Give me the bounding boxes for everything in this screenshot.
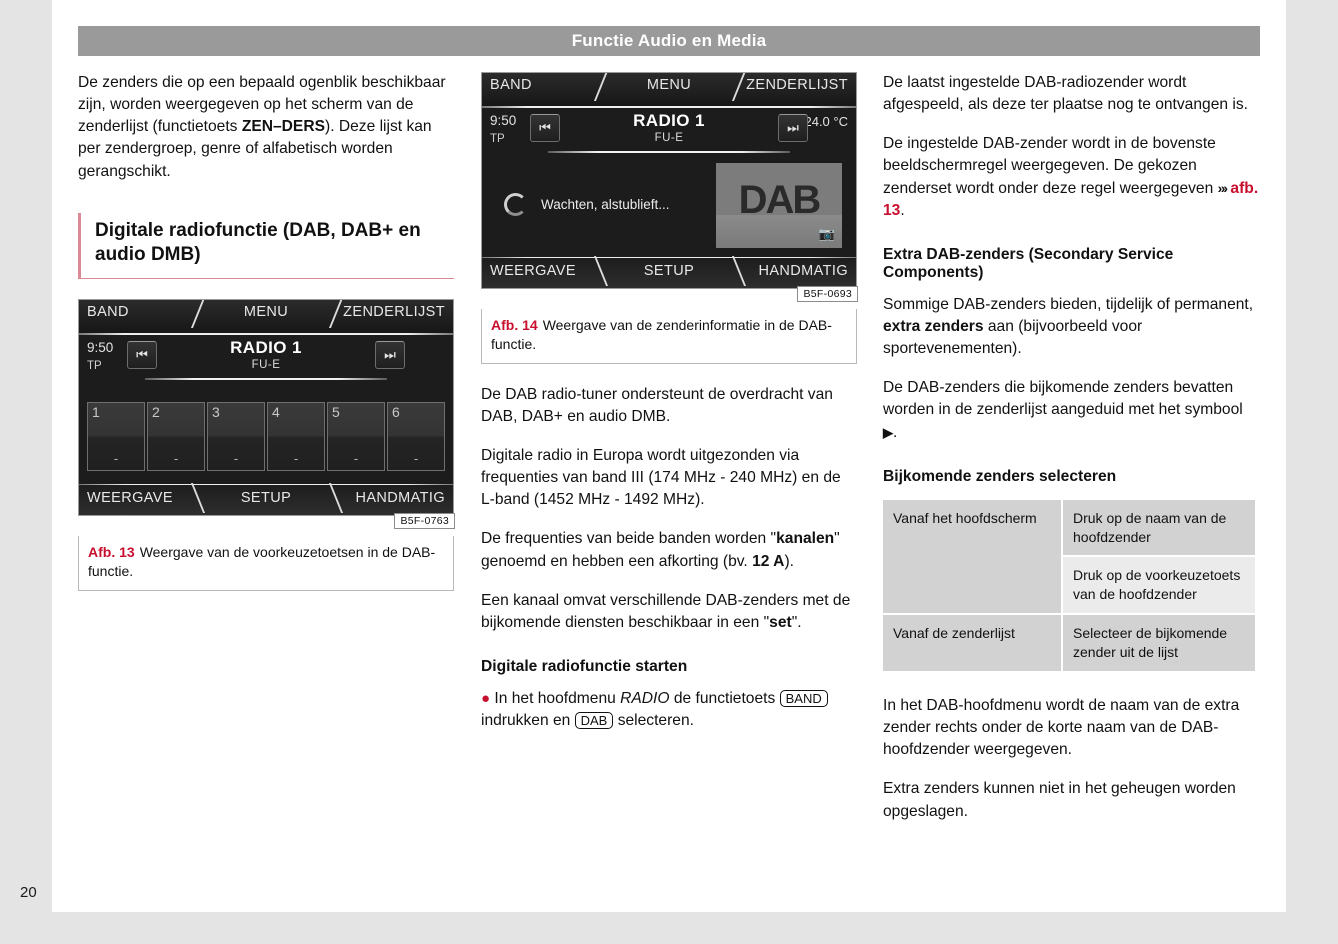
page-number: 20: [20, 884, 37, 901]
skip-next-icon[interactable]: ⏭: [778, 114, 808, 142]
preset-button[interactable]: 1 -: [87, 402, 145, 471]
table-cell-action: Selecteer de bijkomende zender uit de li…: [1063, 615, 1255, 671]
text-run: ).: [784, 553, 794, 570]
skip-previous-icon[interactable]: ⏮: [127, 341, 157, 369]
figure-label: Afb. 13: [88, 544, 135, 560]
screen-top-bar: BAND MENU ZENDERLIJST: [79, 300, 453, 334]
figure-label: Afb. 14: [491, 317, 538, 333]
page-title: Functie Audio en Media: [572, 31, 767, 51]
paragraph-laatst-ingesteld: De laatst ingestelde DAB-radiozender wor…: [883, 72, 1259, 116]
preset-number: 4: [272, 404, 280, 420]
dab-logo-text: DAB: [739, 180, 820, 220]
preset-label: -: [388, 451, 444, 466]
text-italic: RADIO: [620, 690, 669, 707]
preset-label: -: [208, 451, 264, 466]
softkey-handmatig[interactable]: HANDMATIG: [758, 263, 848, 279]
screen-info-row: 9:50 TP RADIO 1 FU-E ⏮ ⏭: [79, 336, 453, 396]
paragraph-sommige-zenders: Sommige DAB-zenders bieden, tijdelijk of…: [883, 294, 1259, 360]
paragraph-symbool: De DAB-zenders die bijkomende zenders be…: [883, 377, 1259, 443]
key-band[interactable]: BAND: [780, 690, 828, 707]
table-row: Vanaf het hoofdscherm Druk op de naam va…: [883, 500, 1255, 556]
figure-14-caption: Afb. 14Weergave van de zenderinformatie …: [481, 309, 857, 364]
screen-bottom-bar: WEERGAVE SETUP HANDMATIG: [482, 258, 856, 288]
paragraph-set: Een kanaal omvat verschillende DAB-zende…: [481, 590, 857, 634]
preset-button[interactable]: 2 -: [147, 402, 205, 471]
column-right: De laatst ingestelde DAB-radiozender wor…: [883, 72, 1259, 840]
subheading-start-dab: Digitale radiofunctie starten: [481, 658, 857, 676]
table-cell-source: Vanaf de zenderlijst: [883, 615, 1061, 671]
text-run: ".: [792, 614, 802, 631]
bullet-dot-icon: ●: [481, 690, 490, 707]
preset-number: 3: [212, 404, 220, 420]
text-bold: kanalen: [776, 530, 834, 547]
loading-spinner-icon: [504, 193, 527, 216]
play-triangle-icon: ▶: [883, 425, 893, 440]
preset-label: -: [148, 451, 204, 466]
text-run: de functietoets: [670, 690, 780, 707]
softkey-zenderlijst[interactable]: ZENDERLIJST: [746, 77, 848, 93]
figure-13-wrap: BAND MENU ZENDERLIJST 9:50 TP RADIO 1 FU…: [78, 299, 454, 516]
softkey-handmatig[interactable]: HANDMATIG: [355, 490, 445, 506]
subheading-extra-dab-zenders: Extra DAB-zenders (Secondary Service Com…: [883, 246, 1259, 282]
screen-bottom-bar: WEERGAVE SETUP HANDMATIG: [79, 485, 453, 515]
preset-button[interactable]: 5 -: [327, 402, 385, 471]
figure-caption-text: Weergave van de voorkeuzetoetsen in de D…: [88, 544, 435, 579]
subheading-bijkomende-zenders: Bijkomende zenders selecteren: [883, 468, 1259, 486]
column-middle: BAND MENU ZENDERLIJST 9:50 TP 24.0 °C RA…: [481, 72, 857, 749]
paragraph-geheugen: Extra zenders kunnen niet in het geheuge…: [883, 778, 1259, 822]
column-left: De zenders die op een bepaald ogenblik b…: [78, 72, 454, 591]
table-cell-action: Druk op de naam van de hoofdzender: [1063, 500, 1255, 556]
screen-top-bar: BAND MENU ZENDERLIJST: [482, 73, 856, 107]
figure-caption-text: Weergave van de zenderinformatie in de D…: [491, 317, 832, 352]
figure-code: B5F-0693: [797, 286, 858, 302]
skip-previous-icon[interactable]: ⏮: [530, 114, 560, 142]
skip-next-icon[interactable]: ⏭: [375, 341, 405, 369]
preset-button[interactable]: 4 -: [267, 402, 325, 471]
paragraph-zenderlijst: De zenders die op een bepaald ogenblik b…: [78, 72, 454, 183]
preset-number: 2: [152, 404, 160, 420]
no-image-icon: 📷: [819, 226, 835, 242]
preset-label: -: [268, 451, 324, 466]
text-bold: 12 A: [752, 553, 784, 570]
radio-screen-info: BAND MENU ZENDERLIJST 9:50 TP 24.0 °C RA…: [481, 72, 857, 289]
text-run: indrukken en: [481, 712, 575, 729]
preset-number: 6: [392, 404, 400, 420]
figure-14-wrap: BAND MENU ZENDERLIJST 9:50 TP 24.0 °C RA…: [481, 72, 857, 289]
screen-divider: [79, 333, 453, 335]
preset-button-row: 1 - 2 - 3 - 4 -: [87, 402, 445, 471]
preset-button[interactable]: 3 -: [207, 402, 265, 471]
radio-screen-presets: BAND MENU ZENDERLIJST 9:50 TP RADIO 1 FU…: [78, 299, 454, 516]
waiting-text: Wachten, alstublieft...: [541, 197, 670, 212]
text-run: De DAB-zenders die bijkomende zenders be…: [883, 379, 1243, 418]
text-bold: extra zenders: [883, 318, 984, 335]
waiting-indicator-row: Wachten, alstublieft...: [504, 193, 670, 216]
screen-info-row: 9:50 TP 24.0 °C RADIO 1 FU-E ⏮ ⏭: [482, 109, 856, 169]
paragraph-hoofdmenu: In het DAB-hoofdmenu wordt de naam van d…: [883, 695, 1259, 761]
bullet-item-start-dab: ● In het hoofdmenu RADIO de functietoets…: [481, 688, 857, 732]
station-underline: [548, 151, 790, 153]
paragraph-kanalen: De frequenties van beide banden worden "…: [481, 528, 857, 572]
station-underline: [145, 378, 387, 380]
preset-number: 5: [332, 404, 340, 420]
figure-13-caption: Afb. 13Weergave van de voorkeuzetoetsen …: [78, 536, 454, 591]
text-run: De frequenties van beide banden worden ": [481, 530, 776, 547]
selection-methods-table: Vanaf het hoofdscherm Druk op de naam va…: [881, 498, 1257, 673]
paragraph-europa: Digitale radio in Europa wordt uitgezond…: [481, 445, 857, 511]
text-run: selecteren.: [613, 712, 694, 729]
paragraph-beeldschermregel: De ingestelde DAB-zender wordt in de bov…: [883, 133, 1259, 222]
figure-code: B5F-0763: [394, 513, 455, 529]
key-dab[interactable]: DAB: [575, 712, 614, 729]
page-header-bar: Functie Audio en Media: [78, 26, 1260, 56]
preset-label: -: [88, 451, 144, 466]
text-run: Sommige DAB-zenders bieden, tijdelijk of…: [883, 296, 1253, 313]
table-cell-source: Vanaf het hoofdscherm: [883, 500, 1061, 614]
softkey-zenderlijst[interactable]: ZENDERLIJST: [343, 304, 445, 320]
paragraph-tuner: De DAB radio-tuner ondersteunt de overdr…: [481, 384, 857, 428]
text-bold: set: [769, 614, 792, 631]
text-run: .: [893, 424, 897, 441]
screen-divider: [482, 106, 856, 108]
dab-logo-box: DAB 📷: [716, 163, 842, 248]
preset-label: -: [328, 451, 384, 466]
table-cell-action: Druk op de voorkeuzetoets van de hoofdze…: [1063, 557, 1255, 613]
preset-number: 1: [92, 404, 100, 420]
text-bold: ZEN–DERS: [242, 118, 325, 135]
text-run: De ingestelde DAB-zender wordt in de bov…: [883, 135, 1218, 196]
preset-button[interactable]: 6 -: [387, 402, 445, 471]
cross-reference-arrows-icon: »›: [1218, 180, 1226, 196]
section-heading: Digitale radiofunctie (DAB, DAB+ en audi…: [78, 213, 454, 279]
text-run: In het hoofdmenu: [494, 690, 620, 707]
table-row: Vanaf de zenderlijst Selecteer de bijkom…: [883, 615, 1255, 671]
text-run: .: [900, 202, 904, 219]
section-heading-wrap: Digitale radiofunctie (DAB, DAB+ en audi…: [78, 213, 454, 279]
